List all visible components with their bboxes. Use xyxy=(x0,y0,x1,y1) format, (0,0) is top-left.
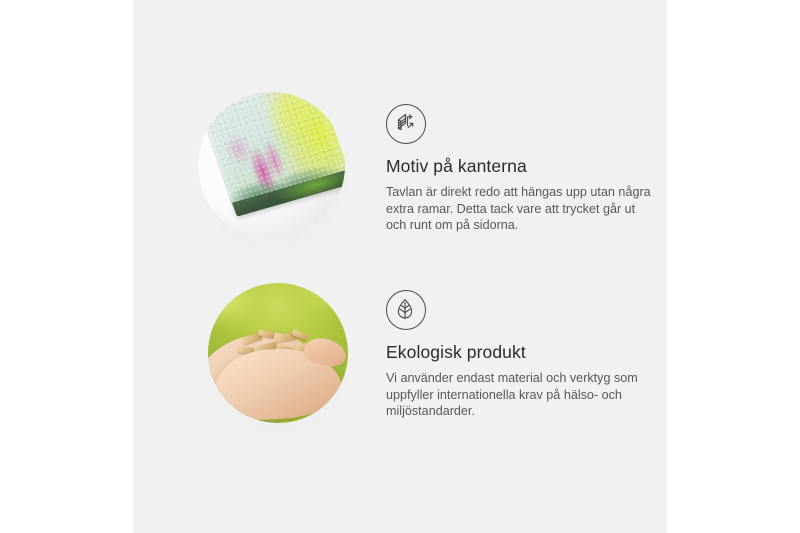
feature-title: Ekologisk produkt xyxy=(386,342,658,363)
feature-body: Tavlan är direkt redo att hängas upp uta… xyxy=(386,184,658,234)
canvas-wrapped-edges-icon xyxy=(386,104,426,144)
screenshot-root: Motiv på kanterna Tavlan är direkt redo … xyxy=(0,0,800,533)
leaf-icon xyxy=(386,290,426,330)
feature-text-block: Motiv på kanterna Tavlan är direkt redo … xyxy=(386,104,658,234)
feature-row-ekologisk-produkt: Ekologisk produkt Vi använder endast mat… xyxy=(133,268,667,448)
feature-panel: Motiv på kanterna Tavlan är direkt redo … xyxy=(133,0,667,533)
feature-title: Motiv på kanterna xyxy=(386,156,658,177)
feature-body: Vi använder endast material och verktyg … xyxy=(386,370,658,420)
hands-holding-wood-chips-photo xyxy=(208,283,348,423)
feature-row-motiv-pa-kanterna: Motiv på kanterna Tavlan är direkt redo … xyxy=(133,78,667,258)
canvas-print-corner-photo xyxy=(198,92,345,239)
feature-text-block: Ekologisk produkt Vi använder endast mat… xyxy=(386,290,658,420)
